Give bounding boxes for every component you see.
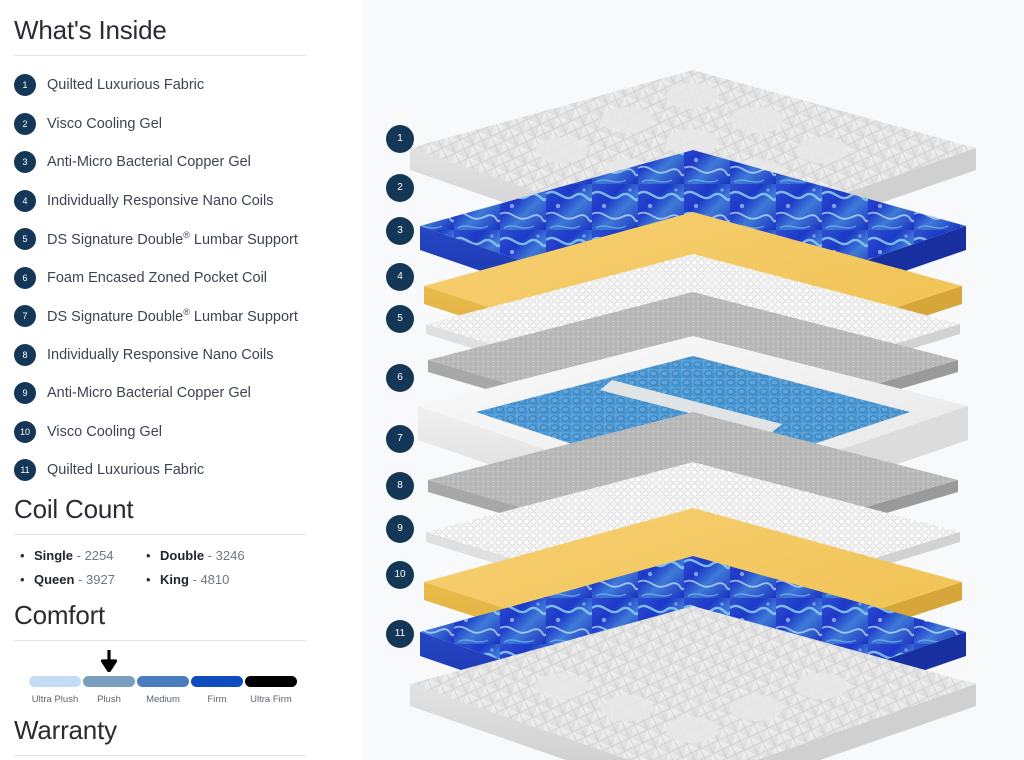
mattress-exploded-diagram <box>362 0 1024 760</box>
illustration-marker[interactable]: 10 <box>386 561 414 589</box>
coil-count-item: Single - 2254 <box>34 548 160 563</box>
product-spec-page: What's Inside 1Quilted Luxurious Fabric2… <box>0 0 1024 760</box>
coil-count-item: Double - 3246 <box>160 548 348 563</box>
layer-row[interactable]: 11Quilted Luxurious Fabric <box>14 451 348 490</box>
whats-inside-title: What's Inside <box>14 16 348 46</box>
layer-row[interactable]: 1Quilted Luxurious Fabric <box>14 66 348 105</box>
illustration-marker[interactable]: 2 <box>386 174 414 202</box>
layer-label: Anti-Micro Bacterial Copper Gel <box>47 385 251 401</box>
comfort-title: Comfort <box>14 601 348 631</box>
layer-row[interactable]: 7DS Signature Double® Lumbar Support <box>14 297 348 336</box>
illustration-marker[interactable]: 7 <box>386 425 414 453</box>
layer-label: DS Signature Double® Lumbar Support <box>47 230 298 248</box>
coil-size-label: Single <box>34 548 73 563</box>
layer-number-badge: 10 <box>14 421 36 443</box>
layer-number-badge: 1 <box>14 74 36 96</box>
layer-row[interactable]: 2Visco Cooling Gel <box>14 104 348 143</box>
layer-row[interactable]: 8Individually Responsive Nano Coils <box>14 335 348 374</box>
comfort-label: Firm <box>191 694 243 705</box>
layer-label: Foam Encased Zoned Pocket Coil <box>47 270 267 286</box>
comfort-scale: Ultra PlushPlushMediumFirmUltra Firm <box>14 650 348 712</box>
comfort-segment-ultra-plush[interactable] <box>29 676 81 687</box>
coil-count-section: Coil Count Single - 2254Double - 3246Que… <box>14 495 348 587</box>
layer-label: Visco Cooling Gel <box>47 116 162 132</box>
comfort-label: Medium <box>137 694 189 705</box>
warranty-title: Warranty <box>14 716 348 746</box>
coil-size-label: King <box>160 572 189 587</box>
layer-row[interactable]: 6Foam Encased Zoned Pocket Coil <box>14 258 348 297</box>
comfort-divider <box>14 640 306 641</box>
illustration-marker[interactable]: 9 <box>386 515 414 543</box>
illustration-panel: 1234567891011 <box>362 0 1024 760</box>
comfort-section: Comfort Ultra PlushPlushMediumFirmUltra … <box>14 601 348 712</box>
comfort-segment-plush[interactable] <box>83 676 135 687</box>
coil-size-label: Queen <box>34 572 74 587</box>
coil-count-value: 4810 <box>200 572 229 587</box>
illustration-marker[interactable]: 6 <box>386 364 414 392</box>
layer-number-badge: 7 <box>14 305 36 327</box>
comfort-selection-arrow-icon <box>100 650 118 672</box>
warranty-divider <box>14 755 306 756</box>
layer-label: Anti-Micro Bacterial Copper Gel <box>47 154 251 170</box>
layer-number-badge: 4 <box>14 190 36 212</box>
comfort-bar <box>29 676 297 687</box>
layer-label: Quilted Luxurious Fabric <box>47 462 204 478</box>
comfort-segment-medium[interactable] <box>137 676 189 687</box>
coil-count-item: King - 4810 <box>160 572 348 587</box>
layer-number-badge: 5 <box>14 228 36 250</box>
layer-row[interactable]: 9Anti-Micro Bacterial Copper Gel <box>14 374 348 413</box>
illustration-marker[interactable]: 3 <box>386 217 414 245</box>
comfort-label: Plush <box>83 694 135 705</box>
illustration-marker[interactable]: 4 <box>386 263 414 291</box>
comfort-label: Ultra Firm <box>245 694 297 705</box>
layer-label: Visco Cooling Gel <box>47 424 162 440</box>
layer-row[interactable]: 10Visco Cooling Gel <box>14 412 348 451</box>
layer-label: Individually Responsive Nano Coils <box>47 193 273 209</box>
coil-count-divider <box>14 534 306 535</box>
illustration-marker[interactable]: 1 <box>386 125 414 153</box>
specs-panel: What's Inside 1Quilted Luxurious Fabric2… <box>0 0 362 760</box>
coil-count-value: 3246 <box>216 548 245 563</box>
comfort-label: Ultra Plush <box>29 694 81 705</box>
whats-inside-divider <box>14 55 306 56</box>
layer-number-badge: 3 <box>14 151 36 173</box>
layer-number-badge: 11 <box>14 459 36 481</box>
illustration-marker[interactable]: 8 <box>386 472 414 500</box>
comfort-segment-firm[interactable] <box>191 676 243 687</box>
coil-size-label: Double <box>160 548 204 563</box>
coil-count-value: 3927 <box>86 572 115 587</box>
layer-number-badge: 2 <box>14 113 36 135</box>
layer-label: Quilted Luxurious Fabric <box>47 77 204 93</box>
coil-count-item: Queen - 3927 <box>34 572 160 587</box>
layer-number-badge: 6 <box>14 267 36 289</box>
layer-row[interactable]: 5DS Signature Double® Lumbar Support <box>14 220 348 259</box>
layer-number-badge: 8 <box>14 344 36 366</box>
illustration-marker[interactable]: 5 <box>386 305 414 333</box>
illustration-marker[interactable]: 11 <box>386 620 414 648</box>
layer-label: DS Signature Double® Lumbar Support <box>47 307 298 325</box>
warranty-section: Warranty 20 Year Limited Warranty <box>14 716 348 760</box>
whats-inside-section: What's Inside 1Quilted Luxurious Fabric2… <box>14 16 348 489</box>
layer-row[interactable]: 4Individually Responsive Nano Coils <box>14 181 348 220</box>
layer-row[interactable]: 3Anti-Micro Bacterial Copper Gel <box>14 143 348 182</box>
coil-count-list: Single - 2254Double - 3246Queen - 3927Ki… <box>14 548 348 587</box>
comfort-bar-labels: Ultra PlushPlushMediumFirmUltra Firm <box>29 694 297 705</box>
layer-number-badge: 9 <box>14 382 36 404</box>
layer-marker-column: 1234567891011 <box>386 0 430 760</box>
coil-count-value: 2254 <box>85 548 114 563</box>
layer-label: Individually Responsive Nano Coils <box>47 347 273 363</box>
layer-list: 1Quilted Luxurious Fabric2Visco Cooling … <box>14 66 348 490</box>
coil-count-title: Coil Count <box>14 495 348 525</box>
comfort-segment-ultra-firm[interactable] <box>245 676 297 687</box>
